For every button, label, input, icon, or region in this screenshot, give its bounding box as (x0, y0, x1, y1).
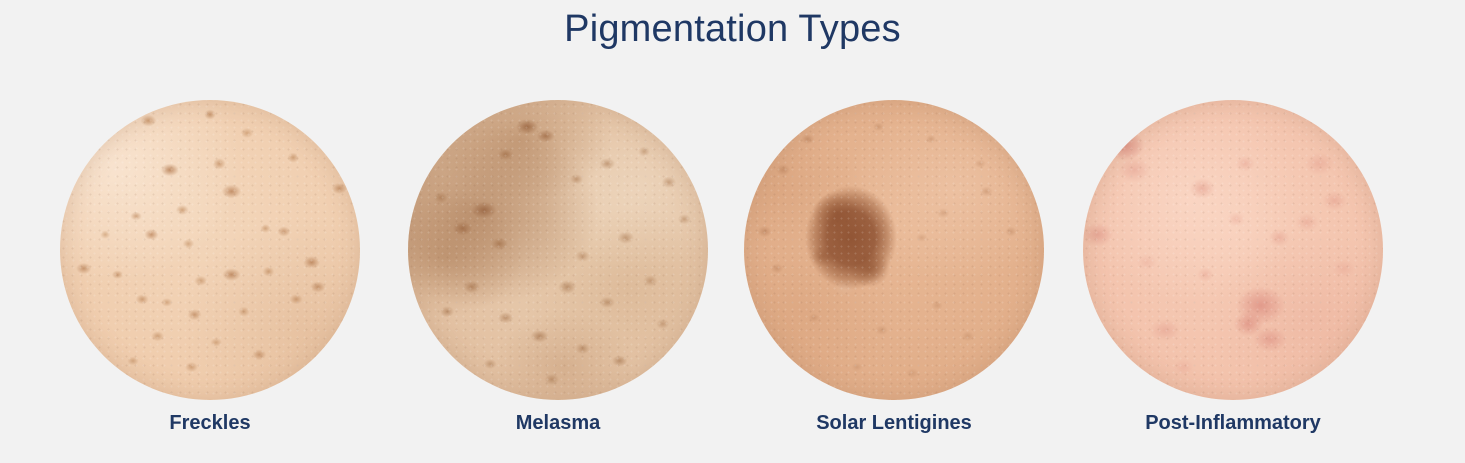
panel-label-melasma: Melasma (408, 412, 708, 435)
pigmentation-panel-row: Freckles Melasma Solar Lentigines (0, 100, 1465, 440)
panel-label-freckles: Freckles (60, 412, 360, 435)
panel-label-post-inflammatory: Post-Inflammatory (1083, 412, 1383, 435)
panel-label-solar-lentigines: Solar Lentigines (744, 412, 1044, 435)
pigmentation-panel-melasma[interactable]: Melasma (408, 100, 710, 435)
skin-circle-swatch-icon (1083, 100, 1383, 400)
pigmentation-panel-solar-lentigines[interactable]: Solar Lentigines (744, 100, 1046, 435)
swatch-pore-texture (1083, 100, 1383, 400)
swatch-pore-texture (408, 100, 708, 400)
pigmentation-panel-post-inflammatory[interactable]: Post-Inflammatory (1083, 100, 1385, 435)
skin-circle-swatch-icon (60, 100, 360, 400)
swatch-pore-texture (744, 100, 1044, 400)
pigmentation-types-infographic: Pigmentation Types Freckles Melasma (0, 0, 1465, 463)
swatch-pore-texture (60, 100, 360, 400)
skin-circle-swatch-icon (408, 100, 708, 400)
pigmentation-panel-freckles[interactable]: Freckles (60, 100, 362, 435)
page-title: Pigmentation Types (0, 8, 1465, 51)
skin-circle-swatch-icon (744, 100, 1044, 400)
